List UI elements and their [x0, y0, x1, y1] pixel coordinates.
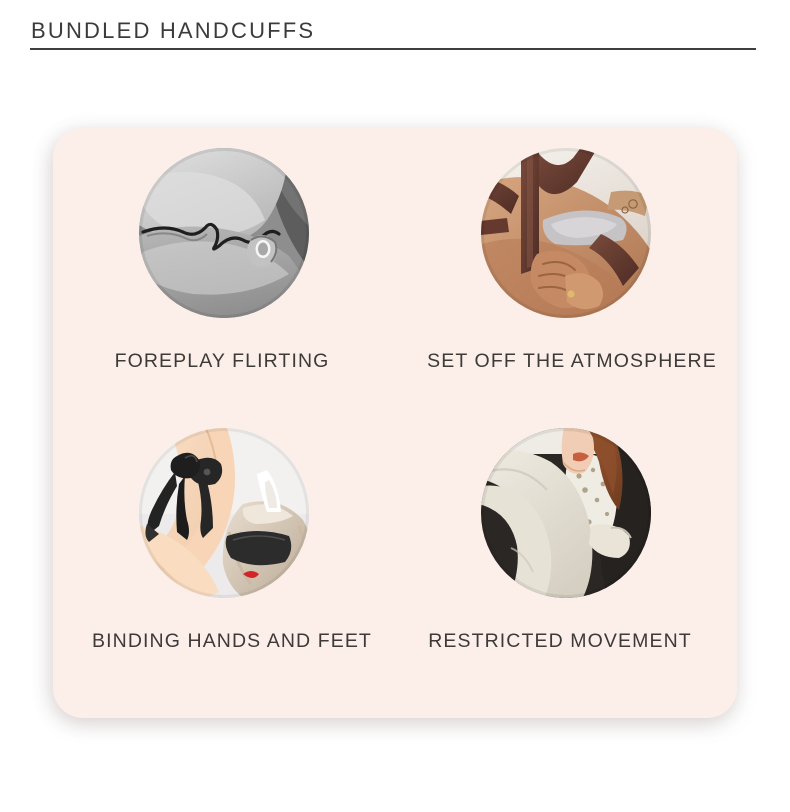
feature-grid: FOREPLAY FLIRTING — [53, 128, 737, 718]
blindfold-ribbon-artwork — [139, 428, 309, 598]
feature-item-binding-hands-and-feet[interactable]: BINDING HANDS AND FEET — [53, 418, 395, 713]
feature-item-foreplay-flirting[interactable]: FOREPLAY FLIRTING — [53, 128, 395, 423]
woman-sweater-artwork — [481, 428, 651, 598]
feature-caption: RESTRICTED MOVEMENT — [389, 630, 731, 653]
feature-caption: FOREPLAY FLIRTING — [51, 350, 393, 373]
feature-card: FOREPLAY FLIRTING — [53, 128, 737, 718]
page-header: BUNDLED HANDCUFFS — [0, 0, 790, 64]
page-title: BUNDLED HANDCUFFS — [31, 18, 315, 44]
leather-strap-artwork — [481, 148, 651, 318]
feature-item-set-off-the-atmosphere[interactable]: SET OFF THE ATMOSPHERE — [395, 128, 737, 423]
kissing-couple-photo — [139, 148, 309, 318]
kissing-couple-artwork — [139, 148, 309, 318]
feature-caption: SET OFF THE ATMOSPHERE — [401, 350, 743, 373]
feature-item-restricted-movement[interactable]: RESTRICTED MOVEMENT — [395, 418, 737, 713]
title-divider — [30, 48, 756, 50]
leather-strap-restraint-photo — [481, 148, 651, 318]
feature-caption: BINDING HANDS AND FEET — [61, 630, 403, 653]
blindfold-ribbon-illustration — [139, 428, 309, 598]
woman-white-sweater-photo — [481, 428, 651, 598]
